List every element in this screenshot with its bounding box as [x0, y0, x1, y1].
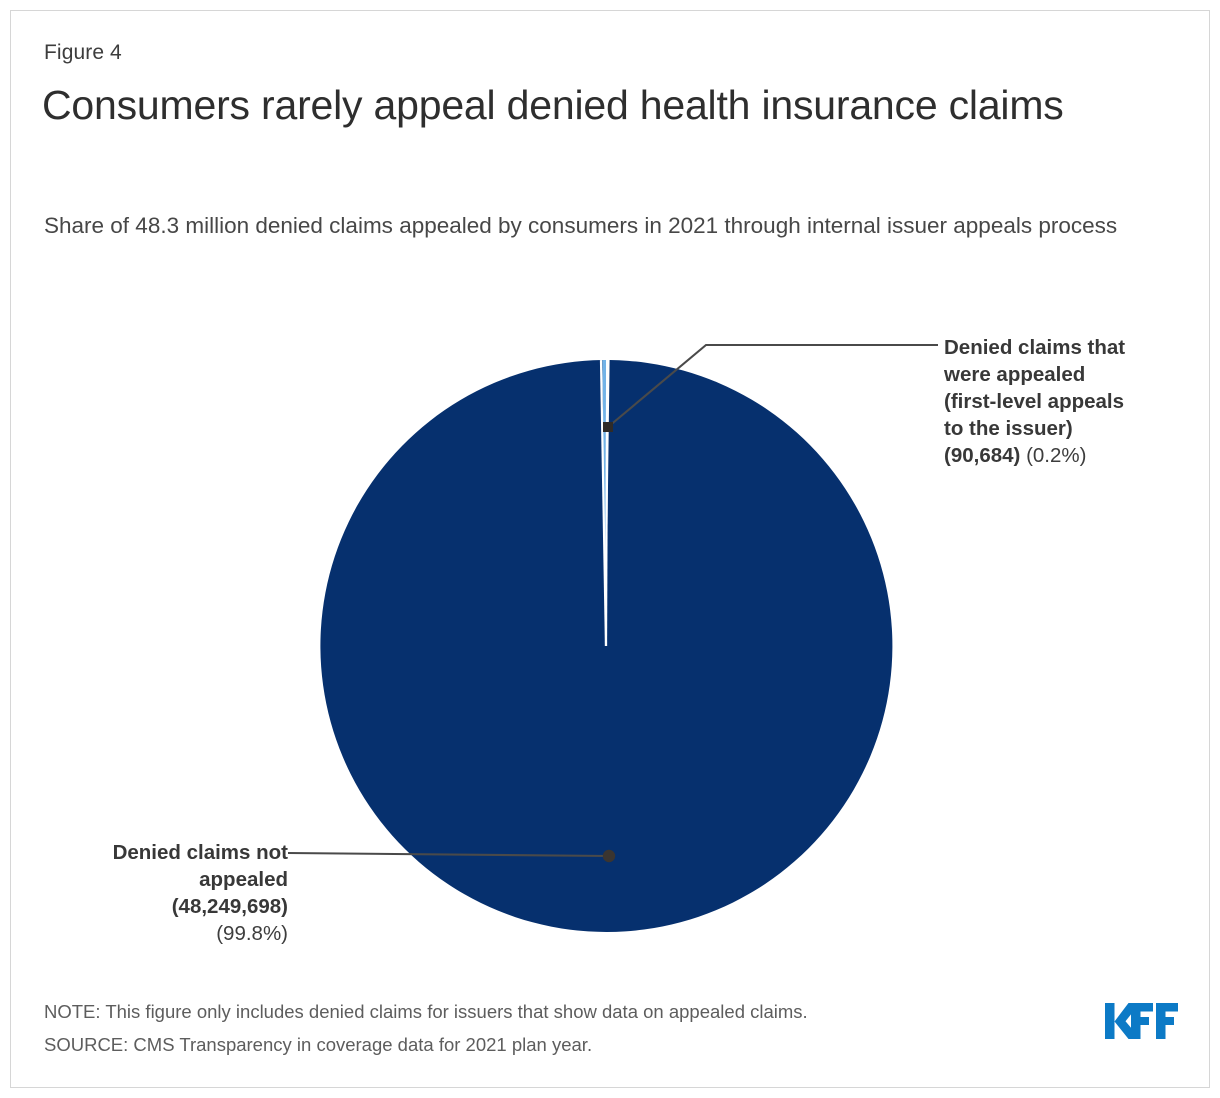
callout-not-appealed-value: (48,249,698)	[172, 895, 288, 918]
callout-appealed-line1: Denied claims that	[944, 336, 1125, 359]
kff-logo[interactable]	[1105, 1001, 1179, 1041]
callout-appealed-line3: (first-level appeals	[944, 390, 1124, 413]
callout-not-appealed: Denied claims not appealed (48,249,698) …	[20, 839, 288, 947]
callout-appealed: Denied claims that were appealed (first-…	[944, 334, 1194, 469]
figure-source: SOURCE: CMS Transparency in coverage dat…	[44, 1033, 592, 1058]
callout-not-appealed-line2: appealed	[199, 868, 288, 891]
callout-appealed-value: (90,684)	[944, 444, 1020, 467]
kff-logo-icon	[1105, 1001, 1179, 1041]
leader-marker-appealed	[603, 422, 613, 432]
callout-not-appealed-line1: Denied claims not	[113, 841, 288, 864]
callout-appealed-line4: to the issuer)	[944, 417, 1073, 440]
figure-container: Figure 4 Consumers rarely appeal denied …	[0, 0, 1220, 1098]
callout-appealed-percent: (0.2%)	[1026, 444, 1086, 467]
callout-appealed-line2: were appealed	[944, 363, 1085, 386]
leader-marker-not-appealed	[603, 850, 615, 862]
callout-not-appealed-percent: (99.8%)	[216, 922, 288, 945]
figure-note: NOTE: This figure only includes denied c…	[44, 1000, 808, 1025]
